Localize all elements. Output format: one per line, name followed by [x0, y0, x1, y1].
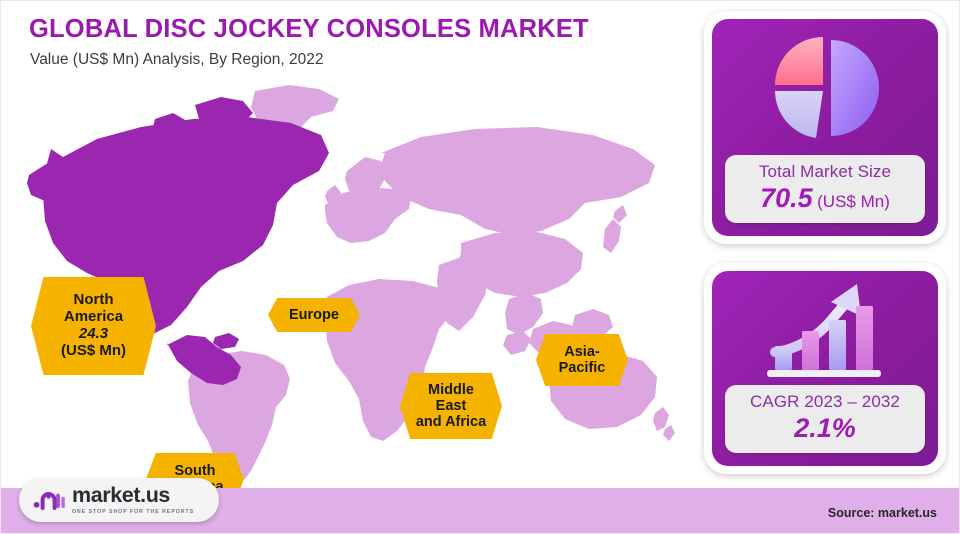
world-map: North America 24.3 (US$ Mn) Europe Middl… — [9, 79, 681, 479]
mea-label-line2: East — [416, 398, 486, 414]
map-label-north-america[interactable]: North America 24.3 (US$ Mn) — [31, 277, 156, 375]
cagr-value-row: 2.1% — [729, 413, 921, 444]
na-unit: (US$ Mn) — [61, 343, 126, 360]
market-us-logo[interactable]: market.us ONE STOP SHOP FOR THE REPORTS — [19, 478, 219, 522]
card-inner-market: Total Market Size 70.5 (US$ Mn) — [712, 19, 938, 236]
na-label-line2: America — [61, 309, 126, 326]
cagr-value-plate: CAGR 2023 – 2032 2.1% — [725, 385, 925, 453]
page-subtitle: Value (US$ Mn) Analysis, By Region, 2022 — [30, 51, 670, 69]
total-market-size-card: Total Market Size 70.5 (US$ Mn) — [704, 11, 946, 244]
pie-chart-icon — [766, 28, 884, 146]
mea-label-line1: Middle — [416, 382, 486, 398]
market-us-logo-mark-icon — [33, 487, 65, 513]
ap-label-line2: Pacific — [559, 360, 606, 376]
market-size-label: Total Market Size — [729, 162, 921, 182]
na-label-line1: North — [61, 292, 126, 309]
map-label-asia-pacific[interactable]: Asia- Pacific — [536, 334, 628, 386]
mea-label-line3: and Africa — [416, 414, 486, 430]
card-inner-cagr: CAGR 2023 – 2032 2.1% — [712, 271, 938, 466]
ap-label-line1: Asia- — [559, 344, 606, 360]
market-size-value-row: 70.5 (US$ Mn) — [729, 183, 921, 214]
na-value: 24.3 — [61, 326, 126, 343]
cagr-value: 2.1% — [794, 413, 856, 443]
map-label-europe[interactable]: Europe — [268, 298, 360, 332]
map-label-middle-east-and-africa[interactable]: Middle East and Africa — [400, 373, 502, 439]
infographic-root: GLOBAL DISC JOCKEY CONSOLES MARKET Value… — [0, 0, 960, 534]
logo-tagline: ONE STOP SHOP FOR THE REPORTS — [72, 509, 194, 515]
cagr-card: CAGR 2023 – 2032 2.1% — [704, 263, 946, 474]
market-size-value-plate: Total Market Size 70.5 (US$ Mn) — [725, 155, 925, 223]
market-size-unit: (US$ Mn) — [817, 192, 890, 211]
bar-chart-growth-icon — [761, 276, 889, 380]
logo-text-wrap: market.us ONE STOP SHOP FOR THE REPORTS — [72, 485, 194, 515]
sa-label-line1: South — [166, 463, 223, 479]
logo-wordmark: market.us — [72, 485, 194, 507]
growth-chart-icon-area — [712, 271, 938, 385]
page-title: GLOBAL DISC JOCKEY CONSOLES MARKET — [29, 15, 669, 44]
cagr-label: CAGR 2023 – 2032 — [729, 392, 921, 412]
pie-chart-icon-area — [712, 19, 938, 155]
source-attribution: Source: market.us — [828, 506, 937, 520]
market-size-value: 70.5 — [760, 183, 813, 213]
eu-label-line1: Europe — [289, 307, 339, 323]
